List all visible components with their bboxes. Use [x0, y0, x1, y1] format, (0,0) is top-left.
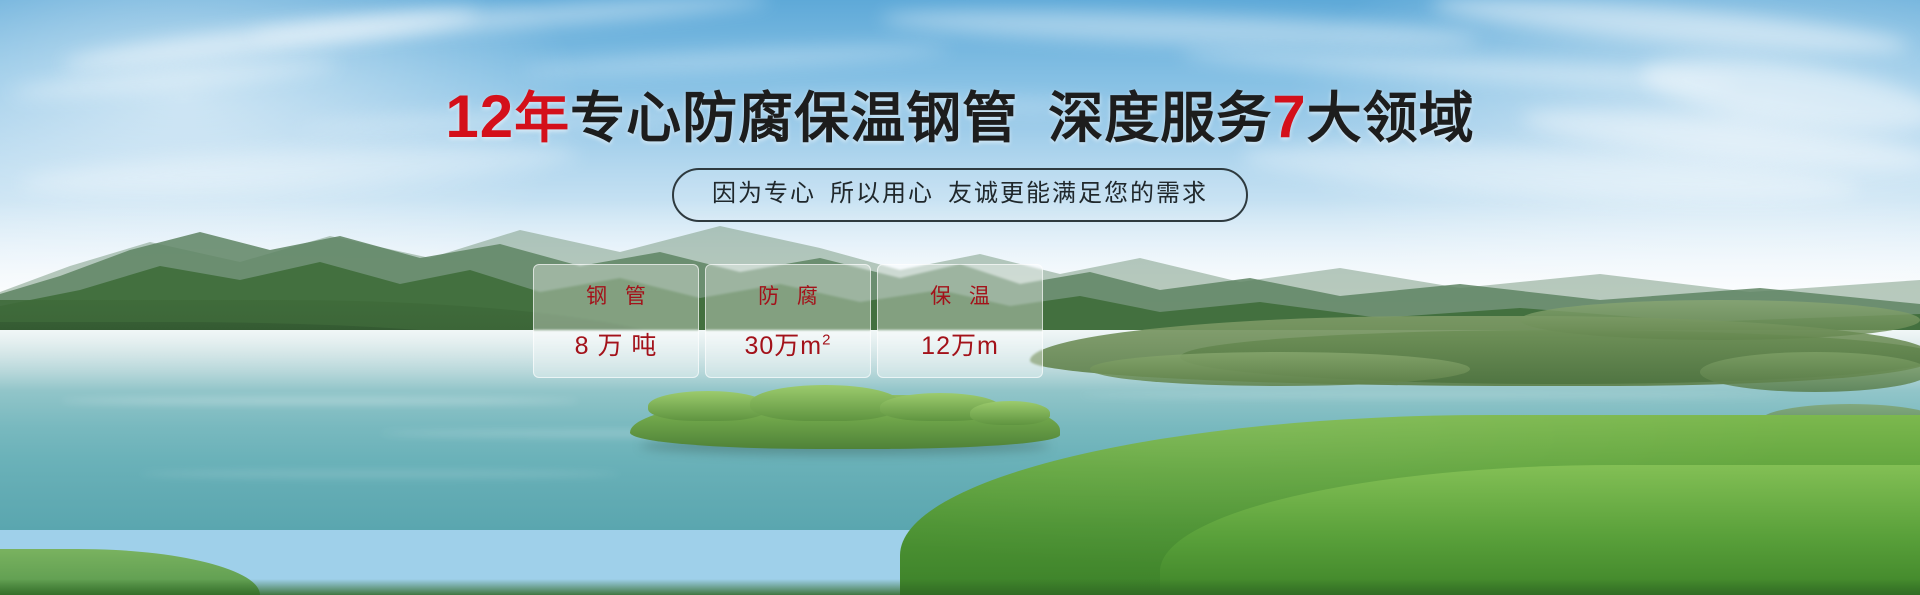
- stat-card-title: 保 温: [924, 280, 996, 310]
- banner-headline: 12年专心防腐保温钢管深度服务7大领域: [0, 88, 1920, 147]
- wetland-patch: [1700, 352, 1920, 392]
- stat-card-value: 12万m: [921, 326, 999, 362]
- headline-years-unit: 年: [514, 87, 570, 149]
- stat-card-value: 30万m2: [745, 326, 832, 362]
- stat-card-value: 8 万 吨: [575, 326, 658, 362]
- banner-subtitle-wrap: 因为专心所以用心友诚更能满足您的需求: [0, 168, 1920, 222]
- stat-card-value-text: 30万m: [745, 332, 823, 360]
- grass-tuft: [970, 401, 1050, 425]
- stat-card-value-text: 8 万 吨: [575, 332, 658, 360]
- wetland-patch: [1090, 352, 1470, 386]
- stat-card-anticorrosion: 防 腐 30万m2: [705, 264, 871, 378]
- stat-cards-row: 钢 管 8 万 吨 防 腐 30万m2 保 温 12万m: [533, 264, 1043, 376]
- subtitle-part-3: 友诚更能满足您的需求: [948, 180, 1208, 207]
- water-ripple: [1080, 392, 1780, 398]
- hero-banner: 12年专心防腐保温钢管深度服务7大领域 因为专心所以用心友诚更能满足您的需求 钢…: [0, 0, 1920, 595]
- water-ripple: [60, 398, 580, 404]
- foreground-grass-edge: [0, 579, 1920, 595]
- stat-card-steel-pipe: 钢 管 8 万 吨: [533, 264, 699, 378]
- stat-card-title: 防 腐: [752, 280, 824, 310]
- headline-service-text: 深度服务: [1048, 87, 1272, 149]
- headline-fields-text: 大领域: [1307, 87, 1475, 149]
- stat-card-value-text: 12万m: [921, 332, 999, 360]
- headline-fields-number: 7: [1272, 83, 1306, 150]
- grass-island: [630, 385, 1060, 455]
- stat-card-insulation: 保 温 12万m: [877, 264, 1043, 378]
- subtitle-part-1: 因为专心: [712, 180, 816, 207]
- grass-tuft: [750, 385, 900, 421]
- headline-main-text: 专心防腐保温钢管: [570, 87, 1018, 149]
- stat-card-title: 钢 管: [580, 280, 652, 310]
- stat-card-value-sup: 2: [822, 332, 831, 349]
- headline-years-number: 12: [445, 83, 514, 150]
- banner-subtitle-pill: 因为专心所以用心友诚更能满足您的需求: [672, 168, 1248, 222]
- subtitle-part-2: 所以用心: [830, 180, 934, 207]
- wetland-patch: [1520, 300, 1920, 340]
- water-ripple: [140, 470, 620, 478]
